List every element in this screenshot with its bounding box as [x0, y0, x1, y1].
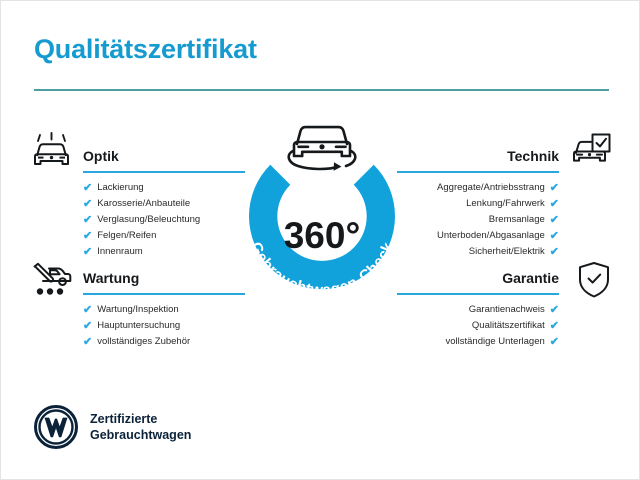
list-item: ✔Verglasung/Beleuchtung [83, 212, 245, 228]
list-item: Unterboden/Abgasanlage✔ [397, 228, 559, 244]
check-icon: ✔ [550, 302, 559, 318]
list-item-label: Lenkung/Fahrwerk [466, 196, 545, 212]
list-item: ✔vollständiges Zubehör [83, 334, 245, 350]
check-icon: ✔ [550, 212, 559, 228]
section-divider-optik [83, 171, 245, 173]
list-item-label: Sicherheit/Elektrik [469, 244, 545, 260]
section-header-technik: Technik [397, 147, 559, 173]
section-title-optik: Optik [83, 147, 245, 165]
section-wartung: Wartung ✔Wartung/Inspektion ✔Hauptunters… [83, 269, 245, 350]
check-icon: ✔ [83, 302, 92, 318]
footer-line-1: Zertifizierte [90, 411, 191, 427]
list-item-label: Felgen/Reifen [97, 228, 156, 244]
badge-360-gebrauchtwagen-check: 360° Gebrauchtwagen-Check [229, 116, 415, 306]
check-icon: ✔ [83, 196, 92, 212]
certificate-page: Qualitätszertifikat Optik ✔Lackierung [0, 0, 640, 480]
list-item-label: Hauptuntersuchung [97, 318, 180, 334]
section-optik: Optik ✔Lackierung ✔Karosserie/Anbauteile… [83, 147, 245, 260]
list-item-label: Lackierung [97, 180, 143, 196]
page-title: Qualitätszertifikat [34, 34, 257, 65]
list-item: ✔Lackierung [83, 180, 245, 196]
check-icon: ✔ [550, 228, 559, 244]
check-icon: ✔ [83, 334, 92, 350]
check-icon: ✔ [83, 180, 92, 196]
check-icon: ✔ [550, 196, 559, 212]
checklist-technik: Aggregate/Antriebsstrang✔ Lenkung/Fahrwe… [397, 180, 559, 260]
footer-line-2: Gebrauchtwagen [90, 427, 191, 443]
footer-text: Zertifizierte Gebrauchtwagen [90, 411, 191, 443]
list-item-label: Garantienachweis [469, 302, 545, 318]
list-item: Lenkung/Fahrwerk✔ [397, 196, 559, 212]
check-icon: ✔ [83, 244, 92, 260]
section-title-garantie: Garantie [397, 269, 559, 287]
list-item-label: vollständiges Zubehör [97, 334, 190, 350]
list-item: ✔Innenraum [83, 244, 245, 260]
check-icon: ✔ [550, 334, 559, 350]
section-header-garantie: Garantie [397, 269, 559, 295]
section-header-wartung: Wartung [83, 269, 245, 295]
list-item: vollständige Unterlagen✔ [397, 334, 559, 350]
title-divider [34, 89, 609, 91]
section-title-wartung: Wartung [83, 269, 245, 287]
checklist-optik: ✔Lackierung ✔Karosserie/Anbauteile ✔Verg… [83, 180, 245, 260]
section-garantie: Garantie Garantienachweis✔ Qualitätszert… [397, 269, 559, 350]
check-icon: ✔ [83, 212, 92, 228]
checklist-wartung: ✔Wartung/Inspektion ✔Hauptuntersuchung ✔… [83, 302, 245, 350]
section-divider-garantie [397, 293, 559, 295]
check-icon: ✔ [550, 180, 559, 196]
section-divider-technik [397, 171, 559, 173]
section-divider-wartung [83, 293, 245, 295]
list-item-label: Karosserie/Anbauteile [97, 196, 190, 212]
list-item: Aggregate/Antriebsstrang✔ [397, 180, 559, 196]
check-icon: ✔ [550, 244, 559, 260]
list-item-label: Bremsanlage [489, 212, 545, 228]
list-item-label: Innenraum [97, 244, 142, 260]
list-item: Garantienachweis✔ [397, 302, 559, 318]
car-wrench-icon [29, 260, 75, 300]
section-title-technik: Technik [397, 147, 559, 165]
car-checkbox-icon [567, 132, 613, 172]
footer-brand: Zertifizierte Gebrauchtwagen [34, 405, 191, 449]
list-item-label: Qualitätszertifikat [472, 318, 545, 334]
check-icon: ✔ [83, 318, 92, 334]
section-header-optik: Optik [83, 147, 245, 173]
checklist-garantie: Garantienachweis✔ Qualitätszertifikat✔ v… [397, 302, 559, 350]
section-technik: Technik Aggregate/Antriebsstrang✔ Lenkun… [397, 147, 559, 260]
list-item: Sicherheit/Elektrik✔ [397, 244, 559, 260]
list-item: ✔Hauptuntersuchung [83, 318, 245, 334]
check-icon: ✔ [550, 318, 559, 334]
badge-center-label: 360° [284, 215, 361, 256]
list-item: Bremsanlage✔ [397, 212, 559, 228]
list-item: ✔Wartung/Inspektion [83, 302, 245, 318]
list-item-label: Aggregate/Antriebsstrang [437, 180, 545, 196]
list-item-label: vollständige Unterlagen [445, 334, 544, 350]
list-item-label: Unterboden/Abgasanlage [437, 228, 545, 244]
vw-logo-icon [34, 405, 78, 449]
check-icon: ✔ [83, 228, 92, 244]
list-item: ✔Karosserie/Anbauteile [83, 196, 245, 212]
list-item: ✔Felgen/Reifen [83, 228, 245, 244]
car-rotate-icon [289, 127, 356, 171]
list-item-label: Wartung/Inspektion [97, 302, 179, 318]
list-item: Qualitätszertifikat✔ [397, 318, 559, 334]
shield-check-icon [571, 260, 617, 300]
car-front-shine-icon [29, 132, 75, 172]
list-item-label: Verglasung/Beleuchtung [97, 212, 200, 228]
